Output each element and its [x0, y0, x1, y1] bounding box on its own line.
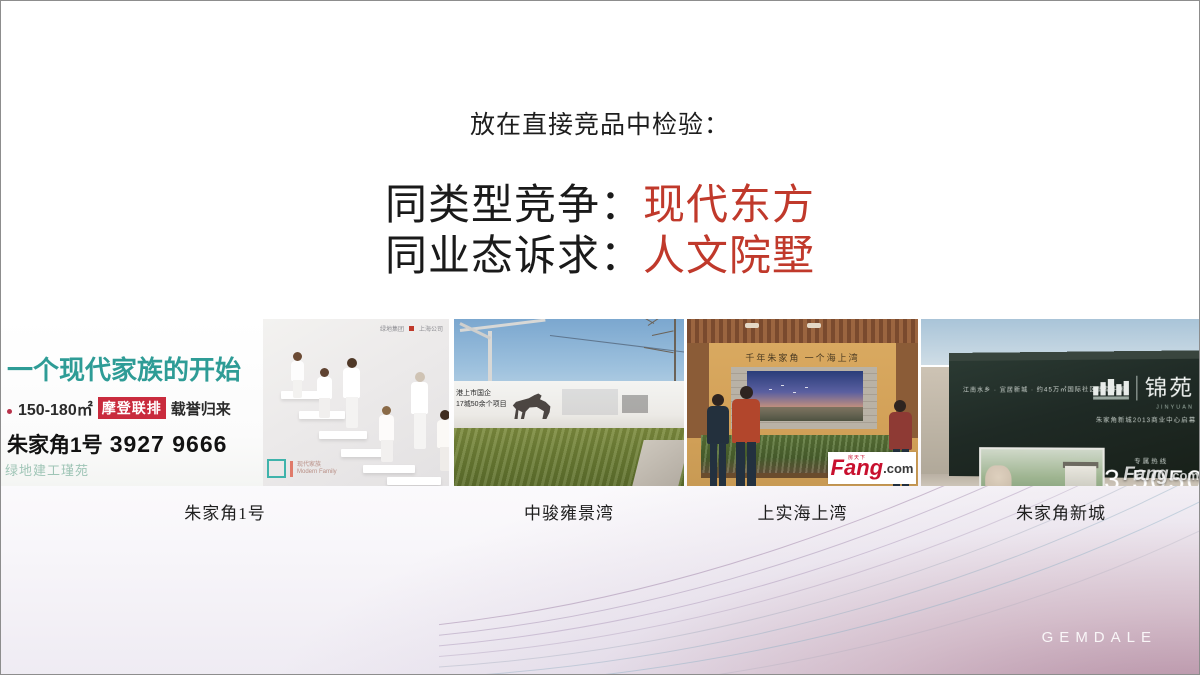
hoarding-logo-cn: 锦苑 — [1145, 377, 1194, 399]
visitor-figure — [731, 386, 761, 486]
modern-family-logo-text: 现代家族 Modern Family — [297, 462, 337, 476]
showroom-banner-text: 千年朱家角 一个海上湾 — [687, 351, 918, 364]
panel-caption-4: 朱家角新城 — [921, 499, 1200, 524]
fang-watermark-suffix: .com — [1169, 468, 1199, 483]
logo-text-cn: 现代家族 — [297, 462, 321, 468]
wall-graphic — [622, 395, 648, 413]
billboard-ad: 一个现代家族的开始 150-180㎡ 摩登联排 载誉归来 朱家角1号3927 9… — [1, 319, 449, 486]
logo-bar-icon — [290, 461, 293, 477]
panel-caption-2: 中骏雍景湾 — [454, 499, 684, 524]
ceiling-light — [745, 323, 759, 328]
logo-square-icon — [409, 326, 414, 331]
hoarding-logo: 锦苑 — [1093, 375, 1194, 400]
billboard-tail: 载誉归来 — [171, 398, 231, 419]
hoarding-render-image — [979, 447, 1105, 486]
statement-accent-2: 人文院墅 — [643, 234, 815, 280]
panel-caption-1: 朱家角1号 — [1, 499, 449, 524]
billboard-badge: 摩登联排 — [98, 397, 166, 419]
billboard-developer: 绿地建工瑾苑 — [5, 460, 89, 479]
billboard-text-side: 一个现代家族的开始 150-180㎡ 摩登联排 载誉归来 朱家角1号3927 9… — [1, 319, 263, 486]
hoarding-caption-line: 朱家角新城2013商业中心启幕 — [1096, 415, 1196, 424]
statement-row-1: 同类型竞争：现代东方 — [1, 181, 1199, 232]
bullet-dot-icon — [7, 409, 12, 414]
hoarding-cap — [949, 350, 1200, 361]
panel-image-3: 千年朱家角 一个海上湾 — [687, 319, 918, 486]
panel-image-2: 港上市国企 17城50余个项目 — [454, 319, 684, 486]
slide-canvas: 放在直接竞品中检验： 同类型竞争：现代东方 同业态诉求：人文院墅 一个现代家族的… — [0, 0, 1200, 675]
billboard-project: 朱家角1号 — [7, 434, 103, 457]
building-logo-icon — [1093, 377, 1129, 400]
statement-label-1: 同类型竞争： — [385, 183, 643, 229]
wall-text-line1: 港上市国企 — [456, 388, 491, 398]
visitor-figure — [705, 394, 731, 486]
fang-watermark-top: 房天下 — [848, 454, 866, 461]
hoarding-logo-en: JINYUAN — [1156, 404, 1194, 410]
panel-captions: 朱家角1号 中骏雍景湾 上实海上湾 朱家角新城 — [1, 499, 1200, 529]
brand-logo-text: GEMDALE — [1042, 629, 1157, 646]
logo-divider — [1136, 376, 1137, 401]
billboard-subline: 150-180㎡ 摩登联排 载誉归来 — [7, 396, 231, 420]
panel-caption-3: 上实海上湾 — [687, 499, 918, 524]
billboard-photo-side: 绿地集团 上海公司 — [263, 319, 449, 486]
intro-line: 放在直接竞品中检验： — [1, 105, 1199, 141]
photo-strip: 一个现代家族的开始 150-180㎡ 摩登联排 载誉归来 朱家角1号3927 9… — [1, 319, 1200, 486]
billboard-project-line: 朱家角1号3927 9666 — [7, 429, 227, 459]
person-figure — [315, 368, 335, 420]
fang-watermark-suffix: .com — [883, 462, 913, 475]
person-figure — [341, 358, 363, 430]
construction-hoarding: 江南水乡 · 宜居新城 · 约45万㎡国际社区醇萃中国 锦苑 JINYUAN 朱… — [949, 356, 1200, 478]
statement-row-2: 同业态诉求：人文院墅 — [1, 232, 1199, 283]
statement-block: 同类型竞争：现代东方 同业态诉求：人文院墅 — [1, 181, 1199, 283]
wall-graphic — [562, 389, 618, 415]
ceiling-slats — [687, 319, 918, 343]
person-figure — [289, 352, 307, 400]
billboard-area: 150-180㎡ — [18, 396, 93, 420]
fang-watermark: 房天下 Fang .com — [828, 452, 916, 484]
wall-text-line2: 17城50余个项目 — [456, 399, 507, 409]
billboard-phone: 3927 9666 — [110, 431, 228, 457]
billboard-corner-logo: 绿地集团 上海公司 — [380, 324, 443, 333]
showroom-poster — [747, 371, 863, 421]
ceiling-light — [807, 323, 821, 328]
billboard-headline: 一个现代家族的开始 — [7, 350, 241, 387]
fang-watermark: Fang.com — [1123, 465, 1199, 484]
panel-image-1: 一个现代家族的开始 150-180㎡ 摩登联排 载誉归来 朱家角1号3927 9… — [1, 319, 449, 486]
person-figure — [409, 372, 431, 450]
statement-accent-1: 现代东方 — [643, 183, 815, 229]
fang-watermark-brand: Fang — [1123, 464, 1168, 485]
site-wall: 港上市国企 17城50余个项目 — [454, 381, 684, 429]
panel-image-4: 江南水乡 · 宜居新城 · 约45万㎡国际社区醇萃中国 锦苑 JINYUAN 朱… — [921, 319, 1200, 486]
statement-label-2: 同业态诉求： — [385, 234, 643, 280]
person-figure — [377, 406, 397, 464]
logo-square-outline-icon — [267, 459, 286, 478]
person-figure — [435, 410, 449, 472]
modern-family-logo: 现代家族 Modern Family — [267, 459, 337, 478]
logo-text-en: Modern Family — [297, 469, 337, 475]
